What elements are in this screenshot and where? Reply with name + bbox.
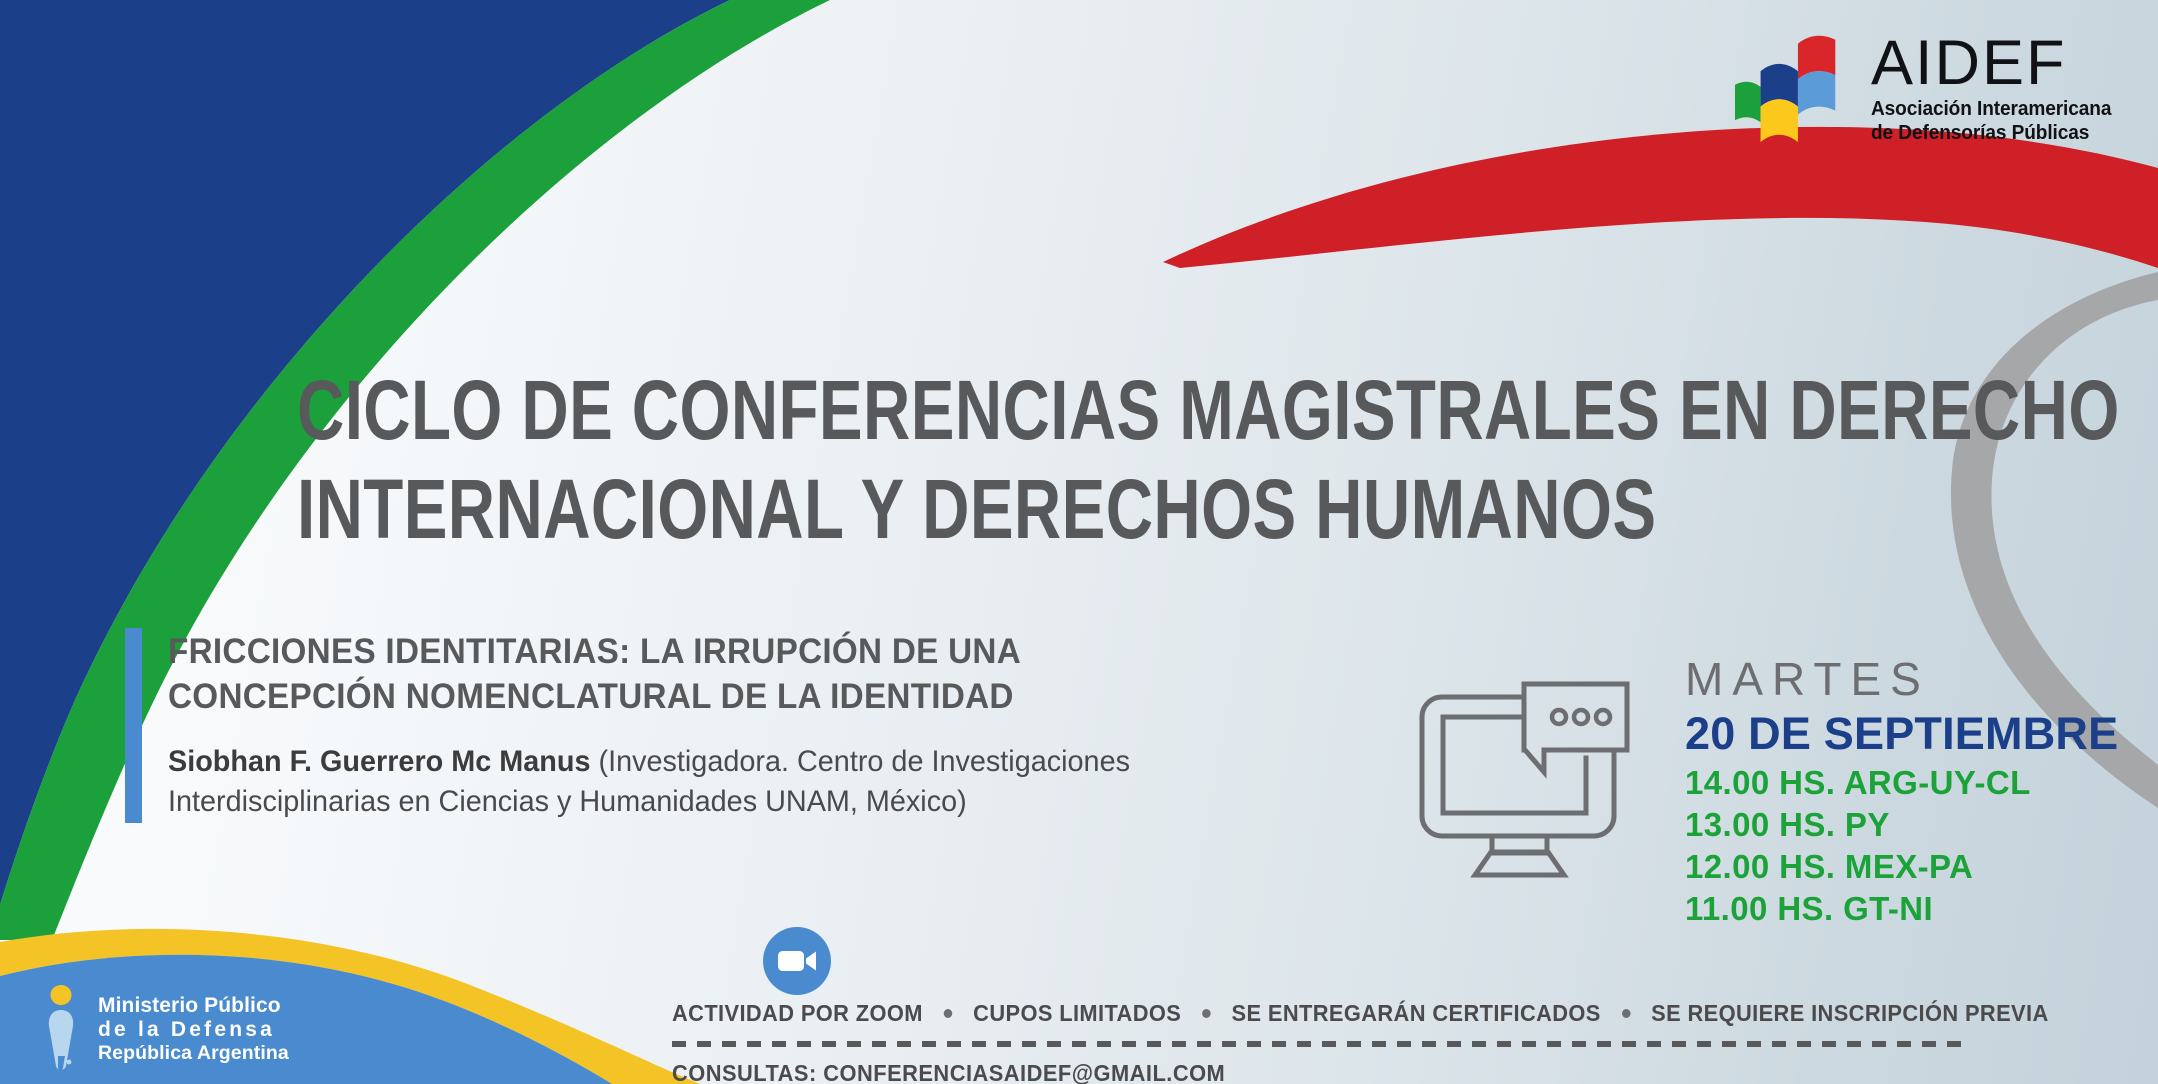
monitor-chat-icon [1409,650,1679,880]
mpd-text: Ministerio Público de la Defensa Repúbli… [98,994,289,1064]
zoom-video-icon [761,925,833,997]
aidef-wordmark: AIDEF Asociación Interamericana de Defen… [1871,28,2129,145]
page-title-line1: CICLO DE CONFERENCIAS MAGISTRALES EN DER… [297,361,1576,459]
footer-note-3: SE REQUIERE INSCRIPCIÓN PREVIA [1651,1000,2049,1027]
footer-note-0: ACTIVIDAD POR ZOOM [672,1000,923,1027]
schedule-date: 20 DE SEPTIEMBRE [1685,707,2145,762]
aidef-flag-icon [1735,28,1853,146]
mpd-line1: Ministerio Público [98,994,289,1018]
aidef-subtitle-line2: de Defensorías Públicas [1871,121,2111,145]
dashed-divider [672,1041,1969,1047]
talk-block: FRICCIONES IDENTITARIAS: LA IRRUPCIÓN DE… [125,628,1255,823]
flyer-canvas: AIDEF Asociación Interamericana de Defen… [0,0,2158,1084]
mpd-line2: de la Defensa [98,1018,289,1042]
red-arc [1163,127,2158,268]
schedule-block: MARTES 20 DE SEPTIEMBRE 14.00 HS. ARG-UY… [1685,655,2145,931]
talk-speaker: Siobhan F. Guerrero Mc Manus (Investigad… [168,742,1212,824]
talk-accent-bar [125,628,142,823]
page-title-line2: INTERNACIONAL Y DERECHOS HUMANOS [297,460,1576,558]
talk-text: FRICCIONES IDENTITARIAS: LA IRRUPCIÓN DE… [168,628,1255,823]
footer-contact: CONSULTAS: CONFERENCIASAIDEF@GMAIL.COM [672,1060,1907,1084]
schedule-weekday: MARTES [1685,655,2145,705]
speaker-name: Siobhan F. Guerrero Mc Manus [168,745,590,778]
footer-note-2: SE ENTREGARÁN CERTIFICADOS [1232,1000,1601,1027]
bullet-separator-icon [1202,1009,1211,1018]
page-title: CICLO DE CONFERENCIAS MAGISTRALES EN DER… [297,361,1576,558]
schedule-time-1: 13.00 HS. PY [1685,804,2145,846]
talk-title-line2: CONCEPCIÓN NOMENCLATURAL DE LA IDENTIDAD [168,675,1201,720]
speaker-affiliation-line1: (Investigadora. Centro de Investigacione… [590,745,1130,778]
talk-title-line1: FRICCIONES IDENTITARIAS: LA IRRUPCIÓN DE… [168,630,1201,675]
aidef-subtitle-line1: Asociación Interamericana [1871,97,2111,121]
mpd-logo: Ministerio Público de la Defensa Repúbli… [38,984,289,1074]
footer-notes-row: ACTIVIDAD POR ZOOM CUPOS LIMITADOS SE EN… [672,1000,1907,1027]
footer-note-1: CUPOS LIMITADOS [973,1000,1181,1027]
mpd-line3: República Argentina [98,1042,289,1065]
mpd-person-icon [38,984,84,1074]
schedule-time-0: 14.00 HS. ARG-UY-CL [1685,762,2145,804]
aidef-logo: AIDEF Asociación Interamericana de Defen… [1735,28,2129,146]
aidef-subtitle: Asociación Interamericana de Defensorías… [1871,97,2111,145]
bullet-separator-icon [944,1009,953,1018]
schedule-time-2: 12.00 HS. MEX-PA [1685,846,2145,888]
schedule-time-3: 11.00 HS. GT-NI [1685,888,2145,930]
bullet-separator-icon [1622,1009,1631,1018]
speaker-affiliation-line2: Interdisciplinarias en Ciencias y Humani… [168,785,967,818]
aidef-name: AIDEF [1871,34,2129,94]
footer-notes: ACTIVIDAD POR ZOOM CUPOS LIMITADOS SE EN… [672,1000,1972,1084]
